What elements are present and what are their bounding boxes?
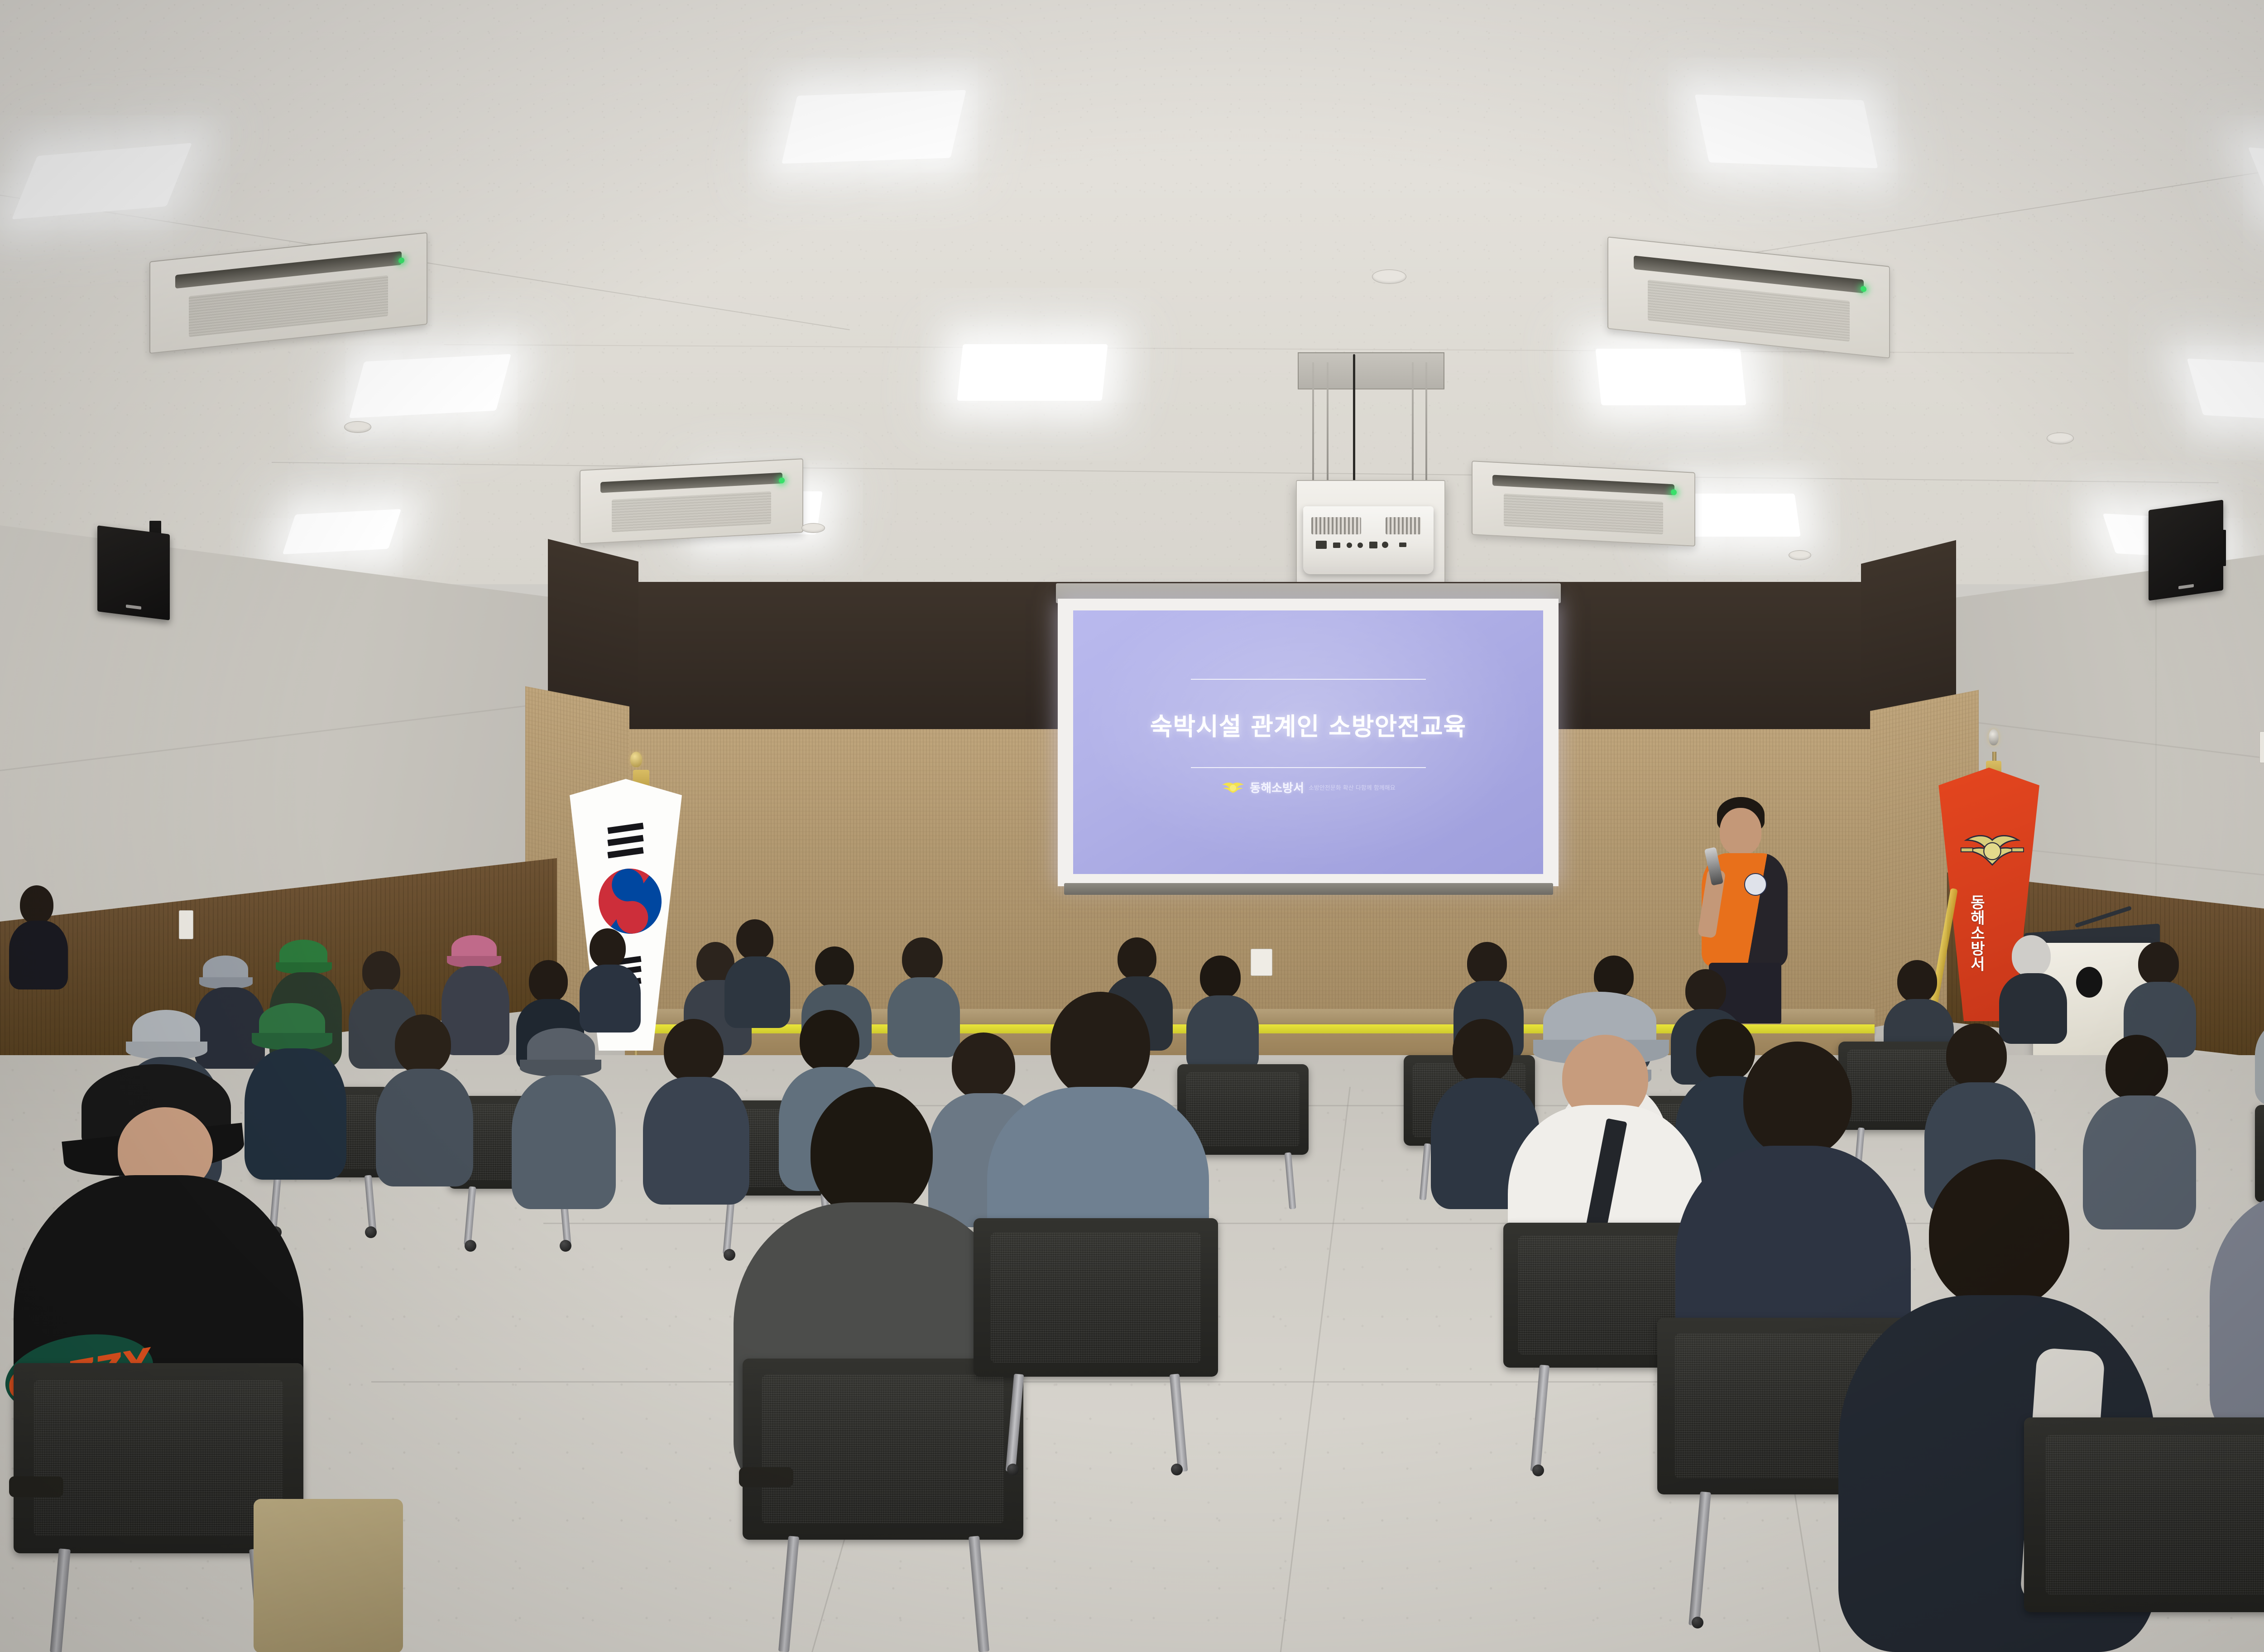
- head: [800, 1010, 859, 1072]
- audience-member: [2255, 974, 2264, 1105]
- fire-service-emblem-icon: [1960, 823, 2025, 879]
- chair-armrest: [739, 1467, 793, 1487]
- chair-leg: [1170, 1373, 1188, 1472]
- projector-port: [1382, 542, 1388, 548]
- ac-air-slot: [1492, 475, 1674, 495]
- sprinkler-head-icon: [801, 523, 825, 533]
- projector-port: [1347, 543, 1352, 548]
- head: [1467, 942, 1507, 984]
- head: [815, 946, 854, 988]
- slide-title: 숙박시설 관계인 소방안전교육: [1073, 706, 1543, 742]
- chair-backrest: [2024, 1417, 2264, 1612]
- ac-status-led-icon: [779, 478, 785, 484]
- chair-caster: [1532, 1465, 1544, 1476]
- chair-leg: [365, 1175, 377, 1232]
- head: [902, 937, 943, 981]
- flag-trigram: [608, 847, 644, 859]
- head: [1118, 937, 1156, 980]
- wall-speaker-right: [2149, 499, 2223, 600]
- wall-speaker-left: [97, 525, 170, 620]
- backpack: [254, 1499, 403, 1652]
- projector-body: [1303, 506, 1434, 574]
- ac-air-slot: [600, 473, 782, 493]
- sprinkler-head-icon: [1372, 269, 1406, 284]
- head: [1453, 1019, 1513, 1083]
- head: [1743, 1042, 1852, 1157]
- flag-trigram: [608, 835, 644, 846]
- torso: [9, 921, 68, 989]
- slide-divider-bottom: [1191, 767, 1426, 768]
- chair-leg: [778, 1536, 799, 1652]
- projector-lift-rod: [1425, 362, 1427, 498]
- chair-leg: [969, 1536, 989, 1652]
- chair: [974, 1218, 1218, 1472]
- ac-status-led-icon: [398, 257, 404, 264]
- torso: [2210, 1193, 2264, 1440]
- ceiling-ac-unit: [1472, 461, 1695, 547]
- ac-grille: [189, 275, 388, 337]
- chair-backrest: [974, 1218, 1218, 1377]
- ac-grille: [612, 491, 772, 533]
- seminar-room-photo: 숙박시설 관계인 소방안전교육 동해소방서 소방안전문화 확산 다함께 함께해요: [0, 0, 2264, 1652]
- head: [1929, 1159, 2069, 1309]
- ceiling-light-panel: [782, 90, 966, 164]
- hat-brim: [520, 1060, 601, 1077]
- head: [395, 1014, 451, 1074]
- slide-tagline: 소방안전문화 확산 다함께 함께해요: [1309, 783, 1396, 792]
- fire-flag-vertical-text: 동해소방서: [1957, 894, 1985, 971]
- ceiling-light-panel: [1681, 494, 1800, 537]
- ac-grille: [1504, 494, 1664, 535]
- chair-leg: [1530, 1364, 1549, 1472]
- head: [362, 951, 400, 993]
- head: [736, 919, 773, 960]
- slide-organization: 동해소방서: [1250, 779, 1304, 796]
- screen-bottom-bar: [1064, 883, 1553, 895]
- chair-leg: [1688, 1492, 1711, 1626]
- ceiling-light-panel: [1695, 95, 1878, 168]
- projector-port: [1316, 541, 1327, 549]
- flag-trigram: [608, 823, 644, 834]
- chair-caster: [465, 1240, 476, 1252]
- ceiling-light-panel: [283, 509, 402, 554]
- head: [811, 1087, 933, 1218]
- torso: [580, 965, 641, 1032]
- projector-cable: [1353, 354, 1355, 495]
- head: [2138, 942, 2179, 985]
- head: [1897, 960, 1937, 1003]
- torso: [376, 1069, 473, 1186]
- audience-member: [580, 928, 641, 1032]
- projector-port: [1357, 543, 1363, 548]
- projector-vent: [1386, 517, 1421, 534]
- chair-mesh: [2046, 1435, 2264, 1595]
- korean-flag-finial-icon: [630, 752, 642, 767]
- presenter-head: [1720, 808, 1761, 855]
- audience-member: [376, 1014, 473, 1186]
- chair-armrest: [9, 1476, 63, 1497]
- chair-mesh: [991, 1233, 1201, 1363]
- head: [1050, 992, 1150, 1098]
- head: [590, 928, 626, 968]
- chair-leg: [1285, 1153, 1296, 1210]
- head: [529, 960, 568, 1003]
- chair-leg: [464, 1186, 476, 1246]
- hat-brim: [252, 1033, 332, 1050]
- projector-ceiling-recess: [1298, 352, 1444, 389]
- sprinkler-head-icon: [2047, 432, 2074, 444]
- chair-mesh: [34, 1380, 283, 1536]
- speaker-brand-label: [126, 605, 141, 610]
- chair-caster: [1692, 1617, 1703, 1628]
- projector-port: [1369, 542, 1377, 548]
- projector-vent: [1311, 517, 1361, 534]
- head: [664, 1019, 724, 1082]
- head: [2012, 935, 2051, 977]
- wall-switch-plate[interactable]: [179, 910, 193, 939]
- head: [2106, 1035, 2168, 1101]
- chair-caster: [560, 1240, 571, 1252]
- chair-foreground: [2024, 1417, 2264, 1652]
- slide-logo-row: 동해소방서 소방안전문화 확산 다함께 함께해요: [1073, 779, 1543, 796]
- fire-flag-finial-icon: [1989, 729, 1999, 745]
- audience-member: [9, 885, 68, 989]
- ac-status-led-icon: [1861, 286, 1866, 292]
- fire-service-eagle-icon: [1221, 781, 1245, 794]
- projector-port: [1333, 543, 1340, 548]
- chair-leg: [1006, 1373, 1024, 1472]
- audience-member: [512, 1028, 616, 1209]
- ac-grille: [1648, 280, 1850, 342]
- chair-caster: [365, 1226, 377, 1238]
- ceiling-ac-unit: [580, 458, 803, 544]
- ceiling-light-panel: [957, 344, 1108, 401]
- torso: [2255, 1019, 2264, 1105]
- presenter-shoulder-patch: [1744, 873, 1767, 896]
- chair-leg: [1420, 1143, 1431, 1201]
- speaker-brand-label: [2178, 584, 2194, 590]
- head: [1946, 1023, 2007, 1088]
- slide-divider-top: [1191, 679, 1426, 680]
- audience-member: [2210, 1096, 2264, 1440]
- lectern-speaker-hole: [2076, 967, 2102, 998]
- torso: [512, 1075, 616, 1209]
- wall-switch-plate[interactable]: [2259, 731, 2264, 763]
- taeguk-symbol: [595, 864, 666, 938]
- projector-lift-rod: [1327, 362, 1329, 498]
- projector-port: [1399, 543, 1406, 547]
- projected-slide: 숙박시설 관계인 소방안전교육 동해소방서 소방안전문화 확산 다함께 함께해요: [1073, 610, 1543, 874]
- chair-mesh: [762, 1375, 1003, 1523]
- ceiling-light-panel: [1595, 349, 1746, 405]
- chair-leg: [50, 1548, 71, 1652]
- sprinkler-head-icon: [344, 421, 371, 433]
- chair-caster: [1171, 1464, 1183, 1475]
- head: [20, 885, 53, 924]
- sprinkler-head-icon: [1789, 550, 1811, 560]
- chair-caster: [1007, 1464, 1019, 1475]
- ceiling-light-panel: [349, 354, 511, 418]
